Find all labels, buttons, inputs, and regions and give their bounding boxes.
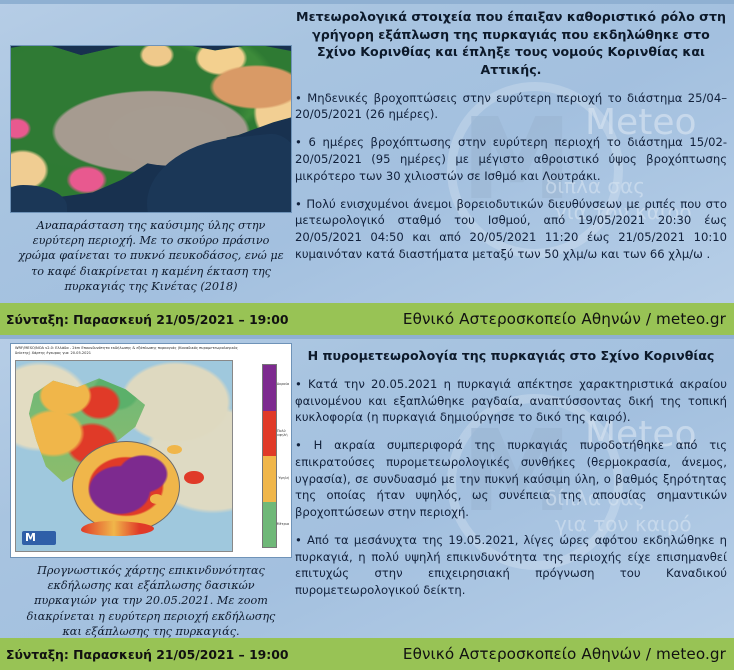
slide-1-bullet-1: • Μηδενικές βροχοπτώσεις στην ευρύτερη π… bbox=[295, 90, 727, 123]
legend-swatch-very-high bbox=[263, 411, 276, 457]
slide-1-footer-timestamp: Σύνταξη: Παρασκευή 21/05/2021 – 19:00 bbox=[6, 312, 289, 327]
slide-2-headline: Η πυρομετεωρολογία της πυρκαγιάς στο Σχί… bbox=[295, 347, 727, 365]
slide-1: M Meteo δίπλα σας για τον καιρό Αναπαράσ… bbox=[0, 0, 734, 335]
legend-label-moderate: Μέτρια bbox=[277, 522, 289, 526]
fire-risk-legend-labels: Ακραία Πολύ υψηλή Υψηλή Μέτρια bbox=[277, 364, 289, 548]
slide-2-bullet-1: • Κατά την 20.05.2021 η πυρκαγιά απέκτησ… bbox=[295, 376, 727, 426]
fuel-map-figure bbox=[10, 45, 292, 213]
fire-risk-map-zoom-inset bbox=[72, 441, 180, 532]
fire-risk-map-crete bbox=[81, 521, 154, 536]
slide-2-bullet-list: • Κατά την 20.05.2021 η πυρκαγιά απέκτησ… bbox=[295, 376, 727, 598]
slide-1-footer-organization: Εθνικό Αστεροσκοπείο Αθηνών / meteo.gr bbox=[403, 310, 726, 328]
fire-risk-map-header-text: WRF/MESO/NOA v2.0: Ελλάδα - 2km Επικινδυ… bbox=[15, 346, 245, 355]
slide-2-figure-column: WRF/MESO/NOA v2.0: Ελλάδα - 2km Επικινδυ… bbox=[10, 335, 292, 635]
fuel-map-image bbox=[11, 46, 291, 212]
fuel-map-caption: Αναπαράσταση της καύσιμης ύλης στην ευρύ… bbox=[10, 218, 292, 294]
legend-label-very-high: Πολύ υψηλή bbox=[277, 429, 289, 437]
fire-risk-map-plot bbox=[15, 360, 233, 552]
legend-label-high: Υψηλή bbox=[278, 476, 289, 480]
slide-1-bullet-list: • Μηδενικές βροχοπτώσεις στην ευρύτερη π… bbox=[295, 90, 727, 263]
slide-2-footer-timestamp: Σύνταξη: Παρασκευή 21/05/2021 – 19:00 bbox=[6, 647, 289, 662]
slide-2-footer-organization: Εθνικό Αστεροσκοπείο Αθηνών / meteo.gr bbox=[403, 645, 726, 663]
slide-1-text-column: Μετεωρολογικά στοιχεία που έπαιξαν καθορ… bbox=[295, 0, 727, 273]
legend-swatch-moderate bbox=[263, 502, 276, 548]
slide-1-bullet-3: • Πολύ ενισχυμένοι άνεμοι βορειοδυτικών … bbox=[295, 196, 727, 262]
legend-swatch-extreme bbox=[263, 365, 276, 411]
fire-risk-map-island-3 bbox=[150, 494, 163, 504]
slide-2-text-column: Η πυρομετεωρολογία της πυρκαγιάς στο Σχί… bbox=[295, 335, 727, 609]
slide-1-bullet-2: • 6 ημέρες βροχόπτωσης στην ευρύτερη περ… bbox=[295, 134, 727, 184]
fire-risk-map-image: WRF/MESO/NOA v2.0: Ελλάδα - 2km Επικινδυ… bbox=[11, 344, 291, 557]
slide-2-bullet-2: • Η ακραία συμπεριφορά της πυρκαγιάς πυρ… bbox=[295, 437, 727, 520]
fire-risk-map-caption: Προγνωστικός χάρτης επικινδυνότητας εκδή… bbox=[10, 563, 292, 639]
legend-label-extreme: Ακραία bbox=[277, 382, 289, 386]
fire-risk-map-figure: WRF/MESO/NOA v2.0: Ελλάδα - 2km Επικινδυ… bbox=[10, 343, 292, 558]
slide-2: M Meteo δίπλα σας για τον καιρό WRF/MESO… bbox=[0, 335, 734, 670]
slide-1-footer: Σύνταξη: Παρασκευή 21/05/2021 – 19:00 Εθ… bbox=[0, 303, 734, 335]
slide-1-headline: Μετεωρολογικά στοιχεία που έπαιξαν καθορ… bbox=[295, 8, 727, 78]
meteo-logo-icon bbox=[22, 531, 56, 545]
slide-2-bullet-3: • Από τα μεσάνυχτα της 19.05.2021, λίγες… bbox=[295, 532, 727, 598]
slide-2-footer: Σύνταξη: Παρασκευή 21/05/2021 – 19:00 Εθ… bbox=[0, 638, 734, 670]
legend-swatch-high bbox=[263, 456, 276, 502]
presentation-deck: M Meteo δίπλα σας για τον καιρό Αναπαράσ… bbox=[0, 0, 734, 670]
slide-1-figure-column: Αναπαράσταση της καύσιμης ύλης στην ευρύ… bbox=[10, 0, 292, 300]
fire-risk-legend-colorbar bbox=[262, 364, 277, 548]
